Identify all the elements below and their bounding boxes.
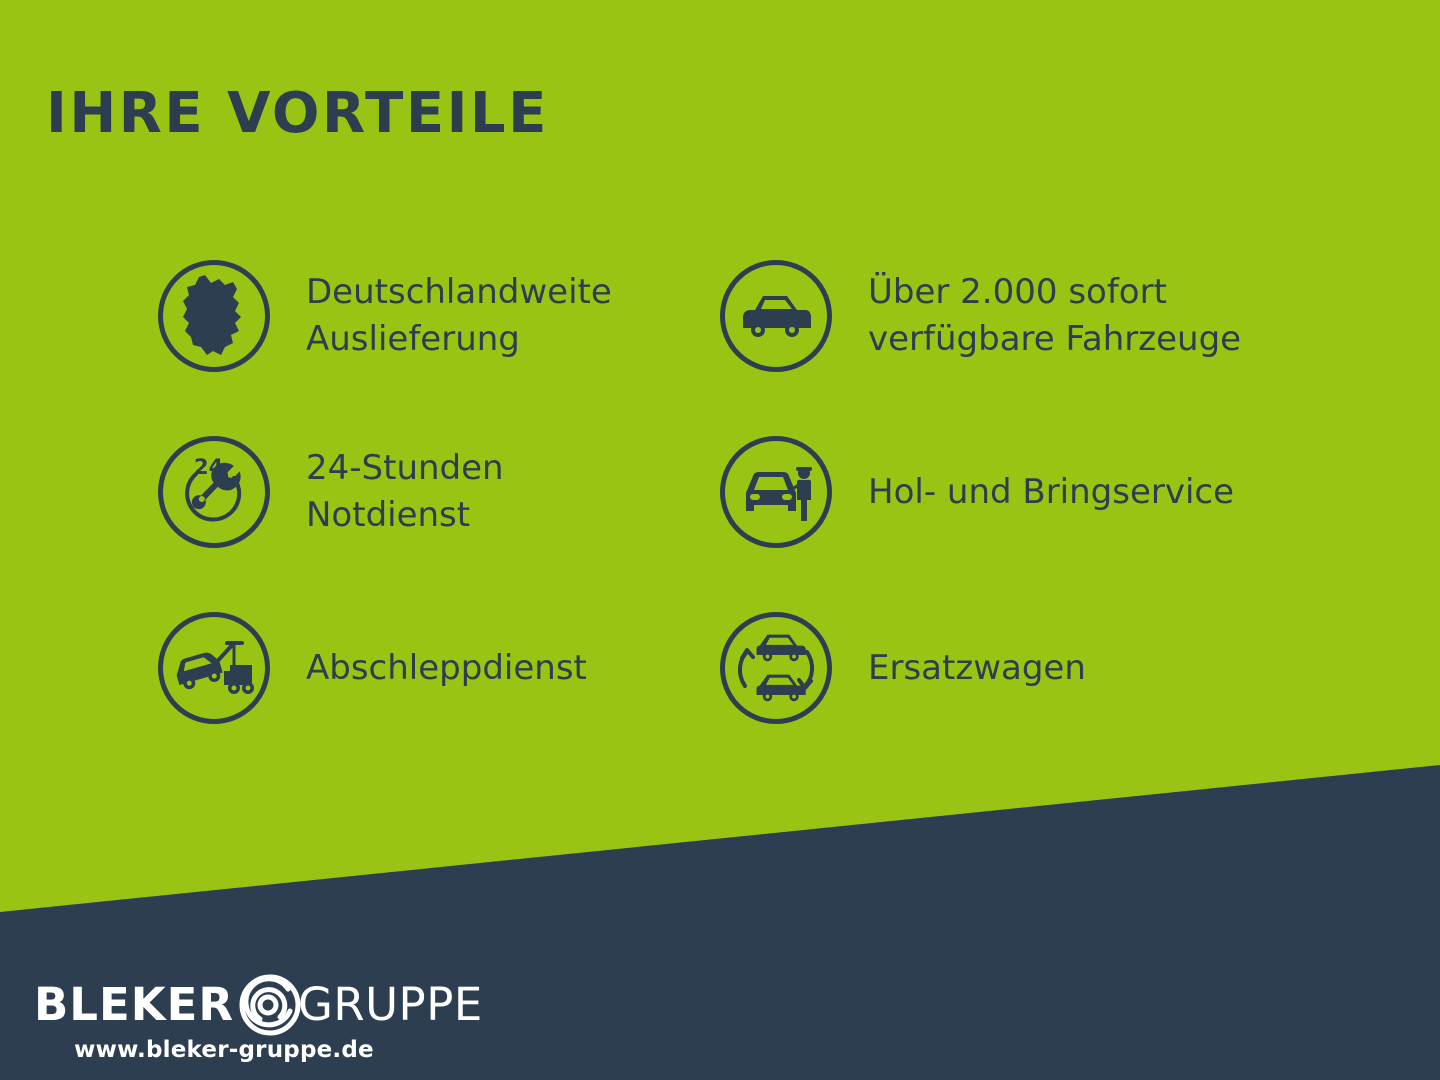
benefit-item-deutschlandweite-auslieferung: Deutschlandweite Auslieferung [158,228,718,404]
page-title: IHRE VORTEILE [46,86,549,142]
benefit-label-line1: Über 2.000 sofort [868,269,1241,316]
replacement-car-icon [720,612,832,724]
benefit-label: Abschleppdienst [306,645,587,692]
car-with-driver-icon [720,436,832,548]
car-icon [720,260,832,372]
benefits-row: Abschleppdienst [0,580,1440,756]
benefit-item-hol-und-bringservice: Hol- und Bringservice [720,404,1320,580]
benefit-item-verfuegbare-fahrzeuge: Über 2.000 sofort verfügbare Fahrzeuge [720,228,1320,404]
brand-name-first: BLEKER [34,982,234,1027]
benefits-grid: Deutschlandweite Auslieferung [0,228,1440,756]
brand-name-second: GRUPPE [298,982,483,1027]
benefit-label: Deutschlandweite Auslieferung [306,269,612,363]
slide-root: IHRE VORTEILE Deutschlandweite Ausliefer… [0,0,1440,1080]
germany-map-icon [158,260,270,372]
benefit-label-line2: Auslieferung [306,316,612,363]
benefit-item-24-stunden-notdienst: 24 24-Stunden Notdienst [158,404,718,580]
brand-website-url: www.bleker-gruppe.de [44,1037,404,1063]
benefit-label-line1: Abschleppdienst [306,645,587,692]
spiral-logo-icon [230,966,304,1042]
benefit-label: 24-Stunden Notdienst [306,445,504,539]
brand-logo-row: BLEKER GRUPPE [34,975,434,1033]
benefit-label-line1: Ersatzwagen [868,645,1086,692]
24-hour-wrench-icon: 24 [158,436,270,548]
benefit-label-line1: Hol- und Bringservice [868,469,1234,516]
benefits-row: Deutschlandweite Auslieferung [0,228,1440,404]
benefit-label-line1: 24-Stunden [306,445,504,492]
benefit-label: Über 2.000 sofort verfügbare Fahrzeuge [868,269,1241,363]
benefit-item-ersatzwagen: Ersatzwagen [720,580,1320,756]
benefit-label-line2: Notdienst [306,492,504,539]
benefits-row: 24 24-Stunden Notdienst [0,404,1440,580]
benefit-label-line2: verfügbare Fahrzeuge [868,316,1241,363]
benefit-label: Ersatzwagen [868,645,1086,692]
benefit-item-abschleppdienst: Abschleppdienst [158,580,718,756]
tow-truck-icon [158,612,270,724]
brand-logo: BLEKER GRUPPE www.bleker-gruppe.de [34,975,434,1063]
benefit-label-line1: Deutschlandweite [306,269,612,316]
benefit-label: Hol- und Bringservice [868,469,1234,516]
